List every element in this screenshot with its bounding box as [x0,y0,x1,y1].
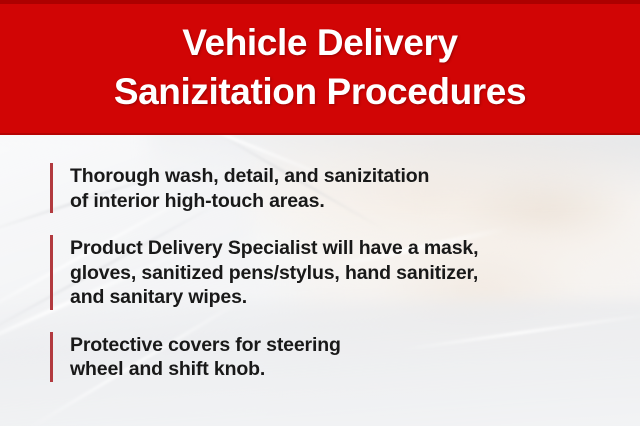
bullet-text-delivery-specialist-ppe: Product Delivery Specialist will have a … [70,235,478,310]
bullet-text-wash-detail: Thorough wash, detail, and sanizitation … [70,163,429,213]
page-title: Vehicle Delivery Sanizitation Procedures [0,18,640,116]
bullet-accent-bar [50,235,53,310]
list-item: Thorough wash, detail, and sanizitation … [50,163,640,213]
vehicle-delivery-sanitization-poster: Vehicle Delivery Sanizitation Procedures… [0,0,640,426]
page-title-line-1: Vehicle Delivery [0,18,640,67]
page-title-line-2: Sanizitation Procedures [0,67,640,116]
list-item: Product Delivery Specialist will have a … [50,235,640,310]
procedures-list: Thorough wash, detail, and sanizitation … [0,135,640,426]
bullet-accent-bar [50,332,53,382]
bullet-text-protective-covers: Protective covers for steering wheel and… [70,332,341,382]
banner-top-edge [0,0,640,4]
title-banner: Vehicle Delivery Sanizitation Procedures [0,0,640,135]
bullet-accent-bar [50,163,53,213]
list-item: Protective covers for steering wheel and… [50,332,640,382]
